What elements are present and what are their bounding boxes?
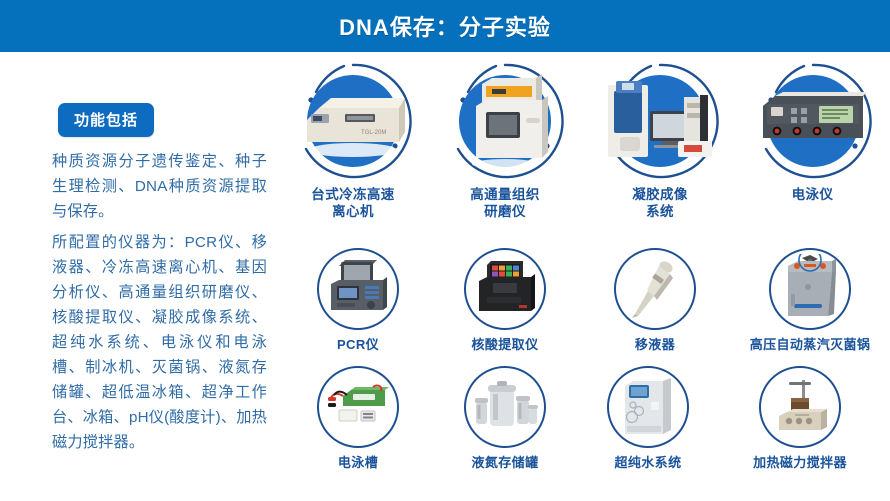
ultrapure-water-system-icon bbox=[619, 376, 677, 438]
equipment-cell-tissue-grinder[interactable]: 高通量组织 研磨仪 bbox=[435, 62, 575, 220]
equipment-label: 液氮存储罐 bbox=[471, 454, 538, 471]
equipment-cell-pcr[interactable]: PCR仪 bbox=[313, 248, 403, 353]
equipment-label: 超纯水系统 bbox=[614, 454, 681, 471]
equipment-cell-electrophoresis-supply[interactable]: 电泳仪 bbox=[740, 62, 885, 203]
equipment-cell-ln2-tank[interactable]: 液氮存储罐 bbox=[455, 366, 555, 471]
pcr-machine-icon bbox=[325, 258, 391, 320]
tissue-grinder-circle bbox=[446, 62, 564, 180]
equipment-cell-pipette[interactable]: 移液器 bbox=[610, 248, 700, 353]
magnetic-stirrer-icon bbox=[769, 376, 831, 438]
electrophoresis-power-supply-icon bbox=[759, 90, 867, 152]
equipment-label: 高通量组织 研磨仪 bbox=[470, 186, 540, 220]
gel-imaging-system-icon bbox=[604, 75, 716, 167]
nucleic-acid-extractor-icon bbox=[473, 259, 537, 319]
liquid-nitrogen-tank-icon bbox=[472, 380, 538, 434]
nucleic-extractor-circle bbox=[464, 248, 546, 330]
equipment-cell-electrophoresis-tank[interactable]: 电泳槽 bbox=[313, 366, 403, 471]
equipment-cell-ultrapure-water[interactable]: 超纯水系统 bbox=[593, 366, 703, 471]
pipette-circle bbox=[614, 248, 696, 330]
equipment-cell-centrifuge[interactable]: TGL-20M 台式冷冻高速 离心机 bbox=[283, 62, 423, 220]
description-paragraph-1: 种质资源分子遗传鉴定、种子生理检测、DNA种质资源提取与保存。 bbox=[52, 149, 267, 224]
equipment-cell-autoclave[interactable]: 高压自动蒸汽灭菌锅 bbox=[725, 248, 890, 353]
equipment-label: 电泳仪 bbox=[792, 186, 834, 203]
equipment-cell-nucleic-extractor[interactable]: 核酸提取仪 bbox=[455, 248, 555, 353]
pipette-icon bbox=[629, 258, 681, 320]
ln2-tank-circle bbox=[464, 366, 546, 448]
centrifuge-circle: TGL-20M bbox=[294, 62, 412, 180]
page-header: DNA保存：分子实验 bbox=[0, 0, 890, 52]
tissue-grinder-icon bbox=[462, 72, 548, 170]
svg-text:TGL-20M: TGL-20M bbox=[361, 130, 386, 136]
description-paragraph-2: 所配置的仪器为：PCR仪、移液器、冷冻高速离心机、基因分析仪、高通量组织研磨仪、… bbox=[52, 230, 267, 455]
equipment-grid: TGL-20M 台式冷冻高速 离心机 bbox=[275, 52, 890, 501]
pcr-circle bbox=[317, 248, 399, 330]
equipment-cell-gel-imaging[interactable]: 凝胶成像 系统 bbox=[585, 62, 735, 220]
equipment-label: 核酸提取仪 bbox=[471, 336, 538, 353]
equipment-label: 高压自动蒸汽灭菌锅 bbox=[750, 336, 871, 353]
equipment-label: 凝胶成像 系统 bbox=[632, 186, 688, 220]
equipment-label: 加热磁力搅拌器 bbox=[753, 454, 847, 471]
electrophoresis-supply-circle bbox=[754, 62, 872, 180]
feature-badge: 功能包括 bbox=[58, 103, 154, 137]
ultrapure-water-circle bbox=[607, 366, 689, 448]
equipment-label: 台式冷冻高速 离心机 bbox=[311, 186, 394, 220]
electrophoresis-tank-icon bbox=[325, 382, 391, 432]
equipment-label: 移液器 bbox=[635, 336, 675, 353]
centrifuge-icon: TGL-20M bbox=[301, 84, 405, 158]
autoclave-icon bbox=[780, 254, 840, 324]
left-info-panel: 功能包括 种质资源分子遗传鉴定、种子生理检测、DNA种质资源提取与保存。 所配置… bbox=[0, 52, 275, 501]
page-title: DNA保存：分子实验 bbox=[339, 10, 551, 42]
autoclave-circle bbox=[769, 248, 851, 330]
magnetic-stirrer-circle bbox=[759, 366, 841, 448]
equipment-label: 电泳槽 bbox=[338, 454, 378, 471]
equipment-label: PCR仪 bbox=[337, 336, 379, 353]
equipment-cell-magnetic-stirrer[interactable]: 加热磁力搅拌器 bbox=[725, 366, 875, 471]
electrophoresis-tank-circle bbox=[317, 366, 399, 448]
gel-imaging-circle bbox=[601, 62, 719, 180]
